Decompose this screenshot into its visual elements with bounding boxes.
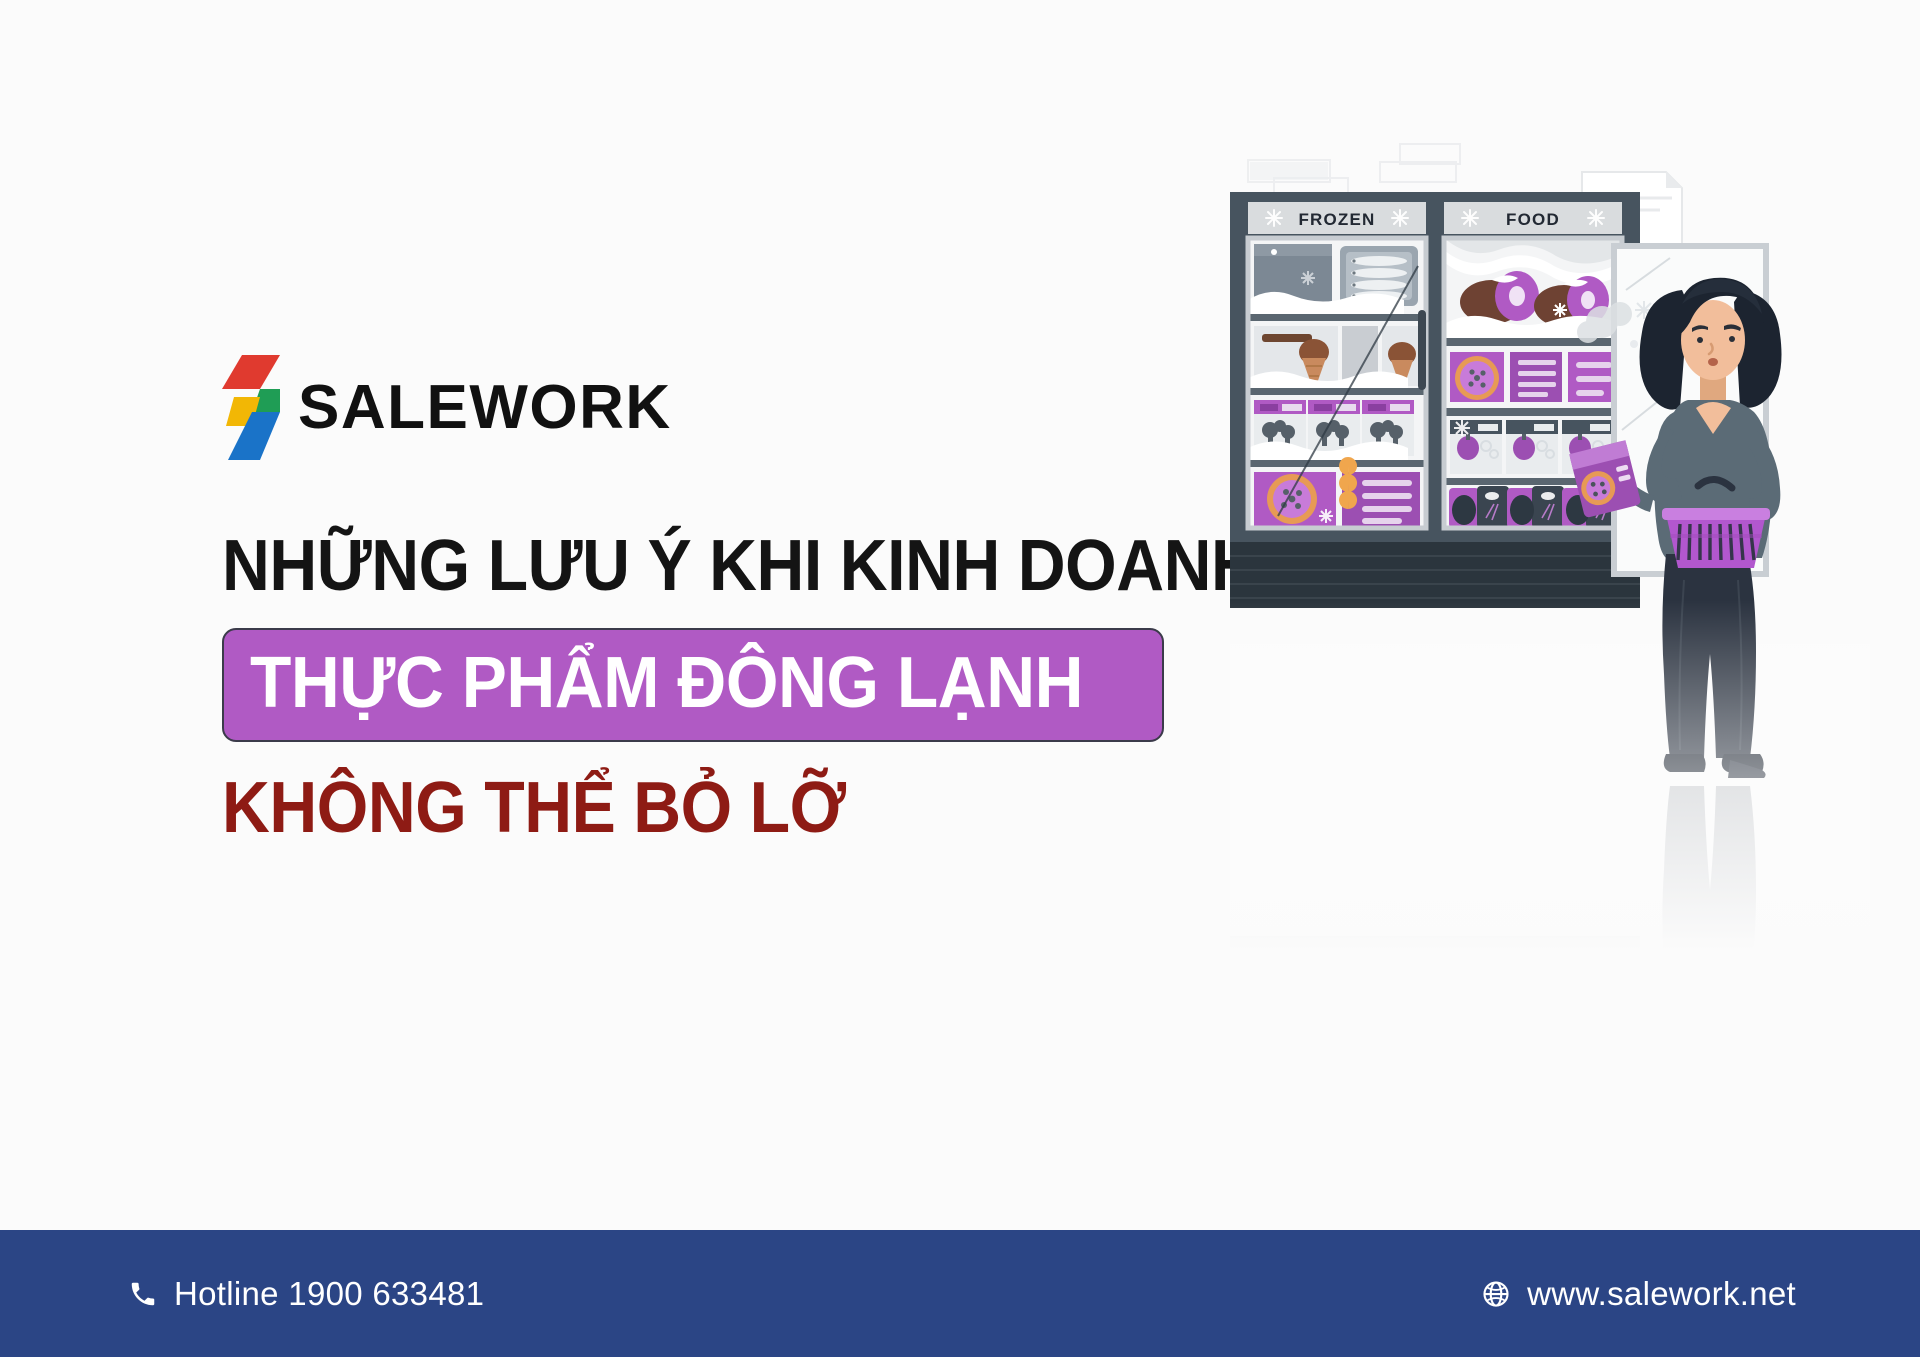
freezer-label-food: FOOD — [1506, 210, 1560, 229]
freezer-illustration: FROZEN FOOD — [1230, 130, 1870, 950]
phone-icon — [128, 1279, 158, 1309]
website-text: www.salework.net — [1527, 1275, 1796, 1313]
hotline-item[interactable]: Hotline 1900 633481 — [128, 1275, 484, 1313]
headline-highlight-box: THỰC PHẨM ĐÔNG LẠNH — [222, 628, 1164, 742]
headline-line-3: KHÔNG THỂ BỎ LỠ — [222, 772, 1142, 844]
footer-bar: Hotline 1900 633481 www.salework.net — [0, 1230, 1920, 1357]
hotline-text: Hotline 1900 633481 — [174, 1275, 484, 1313]
freezer-label-frozen: FROZEN — [1298, 210, 1375, 229]
headline-highlight-text: THỰC PHẨM ĐÔNG LẠNH — [250, 647, 1083, 719]
banner-page: SALEWORK NHỮNG LƯU Ý KHI KINH DOANH THỰC… — [0, 0, 1920, 1357]
globe-icon — [1481, 1279, 1511, 1309]
content-column: SALEWORK NHỮNG LƯU Ý KHI KINH DOANH THỰC… — [222, 355, 1222, 844]
website-item[interactable]: www.salework.net — [1481, 1275, 1796, 1313]
brand-logo[interactable]: SALEWORK — [222, 355, 1222, 460]
brand-name: SALEWORK — [298, 377, 672, 439]
headline-line-1: NHỮNG LƯU Ý KHI KINH DOANH — [222, 530, 1142, 602]
salework-s-logo-icon — [222, 355, 280, 460]
